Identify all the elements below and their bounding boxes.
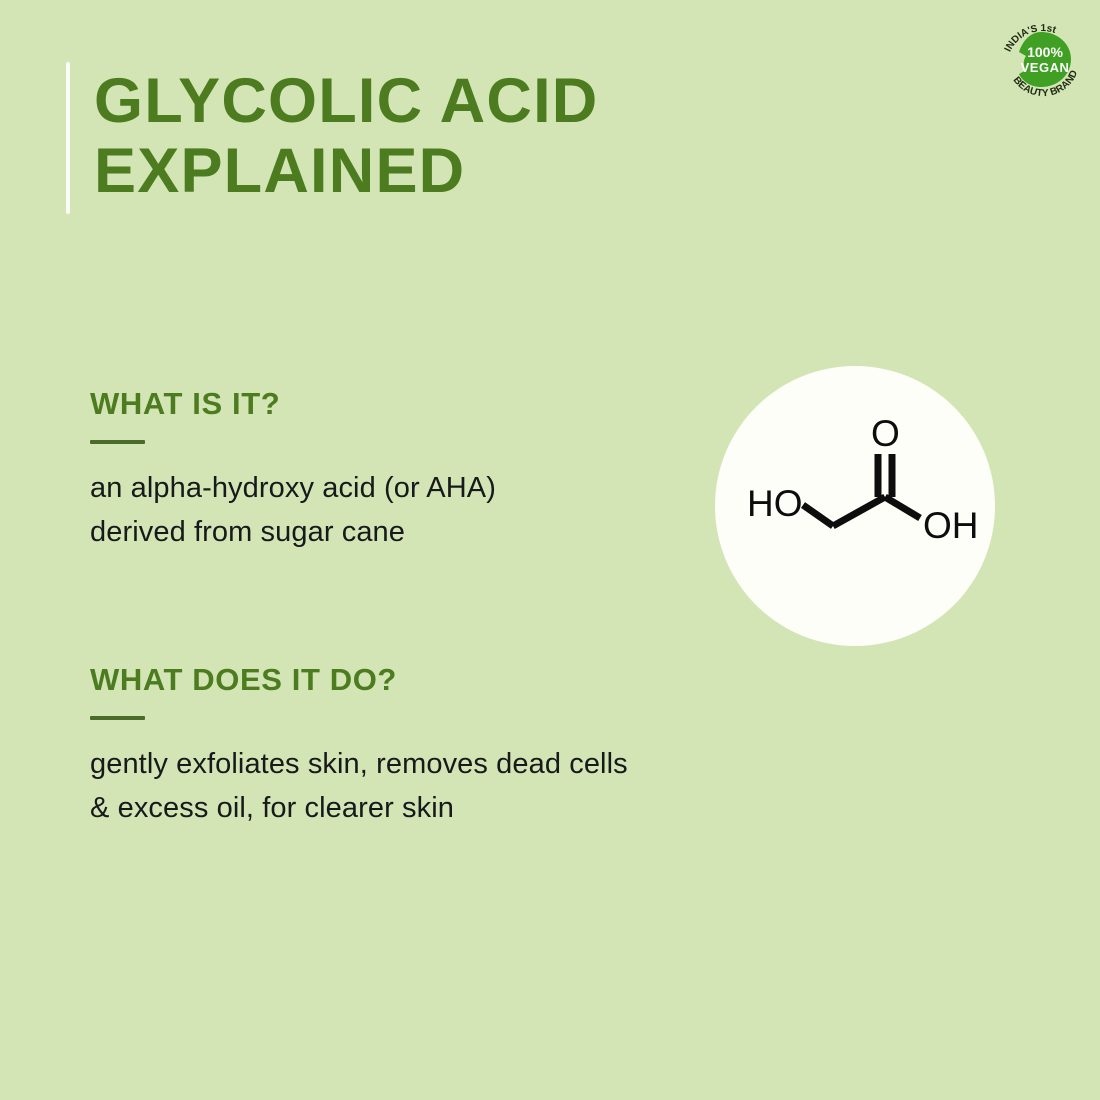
title-accent-bar	[66, 62, 70, 214]
section-what-is-it: WHAT IS IT? an alpha-hydroxy acid (or AH…	[90, 386, 690, 554]
molecule-medallion: HO O OH	[715, 366, 995, 646]
badge-leaf-line-1: 100%	[1027, 44, 1063, 60]
molecule-label-hydroxyl-right: OH	[923, 505, 979, 546]
badge-leaf-line-2: VEGAN	[1021, 60, 1070, 75]
section-what-does-it-do: WHAT DOES IT DO? gently exfoliates skin,…	[90, 662, 690, 830]
glycolic-acid-icon: HO O OH	[715, 366, 995, 646]
section-body-what-does-it-do: gently exfoliates skin, removes dead cel…	[90, 742, 690, 830]
section-heading-what-does-it-do: WHAT DOES IT DO?	[90, 662, 690, 698]
section-body-what-is-it: an alpha-hydroxy acid (or AHA) derived f…	[90, 466, 690, 554]
section-divider	[90, 716, 145, 720]
title-block: GLYCOLIC ACID EXPLAINED	[66, 62, 766, 214]
molecule-label-hydroxyl-left: HO	[747, 483, 803, 524]
vegan-badge: 100% VEGAN INDIA'S 1st BEAUTY BRAND	[995, 13, 1087, 105]
section-heading-what-is-it: WHAT IS IT?	[90, 386, 690, 422]
molecule-label-carbonyl-oxygen: O	[871, 413, 900, 454]
page-title: GLYCOLIC ACID EXPLAINED	[94, 66, 598, 206]
section-divider	[90, 440, 145, 444]
infographic-canvas: GLYCOLIC ACID EXPLAINED 100% VEGAN INDIA…	[0, 0, 1100, 1100]
